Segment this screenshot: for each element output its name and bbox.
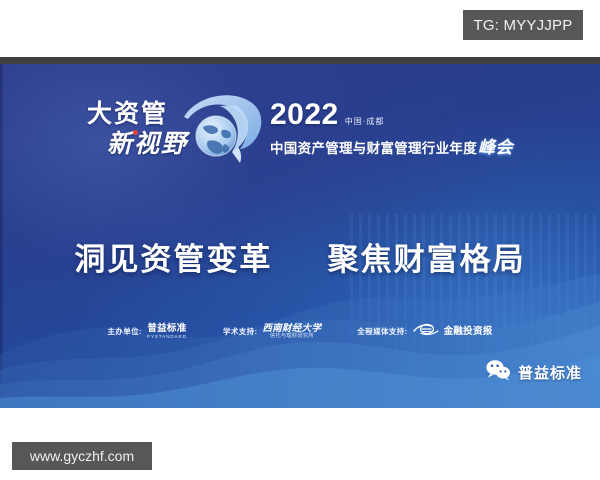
keyvisual-line-1: 大资管: [87, 102, 188, 127]
sponsor-organizer-subname: PYSTANDARD: [147, 334, 187, 339]
year-label: 2022: [270, 100, 339, 130]
sponsor-academic-subname: 信托与理财研究所: [270, 334, 314, 340]
subtitle-main-text: 中国资产管理与财富管理行业年度: [270, 137, 477, 157]
keyvisual-line-2-text: 新视野: [107, 130, 188, 158]
telegram-watermark-badge: TG: MYYJJPP: [463, 10, 583, 40]
sponsor-academic: 学术支持: 西南财经大学 信托与理财研究所: [223, 324, 321, 340]
conference-banner: 大资管 新视野: [0, 64, 600, 408]
telegram-watermark-text: TG: MYYJJPP: [474, 17, 573, 34]
logo-lockup: 大资管 新视野: [0, 86, 600, 172]
site-url-text: www.gyczhf.com: [30, 448, 134, 464]
sponsor-organizer: 主办单位: 普益标准 PYSTANDARD: [107, 324, 187, 339]
screenshot-canvas: TG: MYYJJPP: [0, 0, 600, 480]
city-label: 中国·成都: [345, 116, 385, 130]
logo-right-text: 2022 中国·成都 中国资产管理与财富管理行业年度 峰会: [270, 100, 513, 158]
wechat-account-name: 普益标准: [518, 362, 582, 383]
sponsor-academic-logo: 西南财经大学 信托与理财研究所: [262, 324, 321, 340]
main-slogan: 洞见资管变革 聚焦财富格局: [0, 234, 600, 279]
red-accent-dot: [133, 130, 138, 135]
keyvisual-line-2: 新视野: [107, 132, 188, 157]
sponsor-organizer-logo: 普益标准 PYSTANDARD: [147, 324, 187, 339]
top-divider-strip: [0, 57, 600, 64]
keyvisual-chinese-title: 大资管 新视野: [87, 102, 188, 157]
sponsor-row: 主办单位: 普益标准 PYSTANDARD 学术支持: 西南财经大学 信托与理财…: [0, 322, 600, 341]
sponsor-organizer-name: 普益标准: [147, 324, 186, 334]
subtitle-accent-text: 峰会: [478, 133, 513, 158]
sponsor-academic-label: 学术支持:: [223, 326, 258, 337]
sponsor-organizer-label: 主办单位:: [107, 326, 142, 337]
sponsor-media: 全程媒体支持: 金融投资报: [357, 322, 492, 341]
slogan-left: 洞见资管变革: [74, 242, 272, 277]
site-url-watermark: www.gyczhf.com: [12, 442, 152, 470]
wechat-icon: [485, 359, 511, 386]
slogan-right: 聚焦财富格局: [328, 242, 526, 277]
sponsor-media-name: 金融投资报: [444, 327, 493, 337]
wechat-footer: 普益标准: [485, 359, 582, 386]
wave-mark-icon: [413, 322, 439, 341]
year-row: 2022 中国·成都: [270, 100, 513, 130]
sponsor-media-label: 全程媒体支持:: [357, 326, 407, 337]
subtitle-row: 中国资产管理与财富管理行业年度 峰会: [270, 133, 513, 158]
globe-swoosh-icon: [178, 89, 264, 169]
